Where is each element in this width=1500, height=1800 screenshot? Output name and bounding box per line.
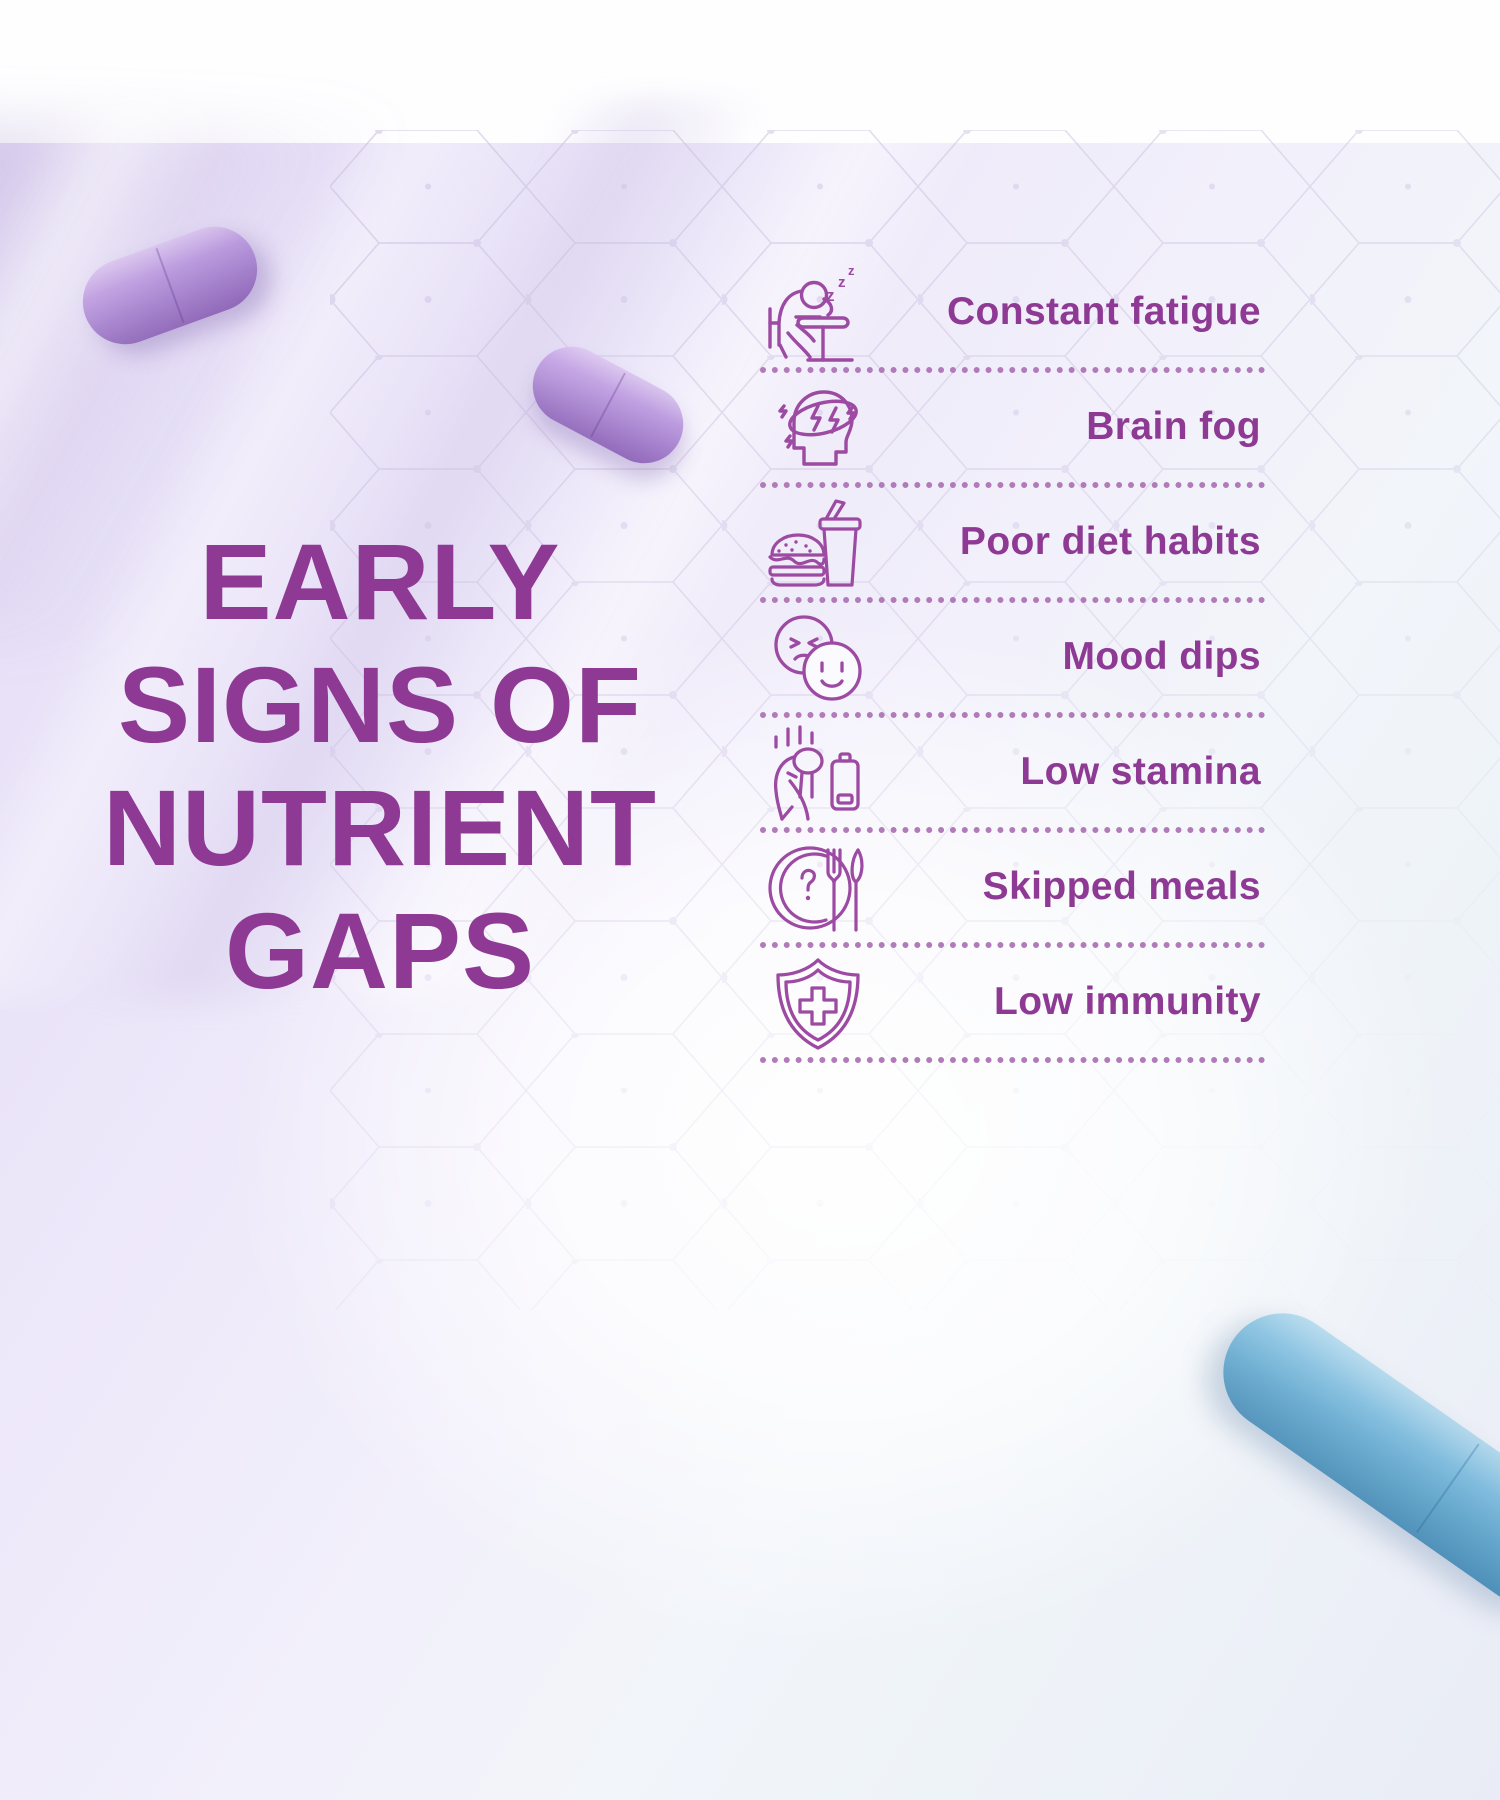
list-item: Skipped meals	[760, 833, 1265, 948]
list-item-label: Skipped meals	[876, 867, 1265, 908]
top-white-band	[0, 0, 1500, 143]
nutrient-gaps-poster: EARLY SIGNS OF NUTRIENT GAPS z z z	[0, 0, 1500, 1800]
early-signs-list: z z z Constant fatigue	[760, 258, 1265, 1063]
empty-plate-question-cutlery-icon	[760, 836, 876, 940]
shield-medical-cross-icon	[760, 951, 876, 1055]
headline-line-3: NUTRIENT	[40, 766, 720, 889]
list-item-label: Low immunity	[876, 982, 1265, 1023]
list-item-label: Poor diet habits	[876, 522, 1265, 563]
list-item: Poor diet habits	[760, 488, 1265, 603]
headline-line-2: SIGNS OF	[40, 643, 720, 766]
head-with-lightning-fog-icon	[760, 376, 876, 480]
list-item: Low stamina	[760, 718, 1265, 833]
person-asleep-at-desk-icon: z z z	[760, 261, 876, 365]
headline-line-4: GAPS	[40, 889, 720, 1012]
list-item-label: Brain fog	[876, 407, 1265, 448]
svg-text:z: z	[838, 274, 846, 291]
svg-text:z: z	[848, 263, 855, 278]
list-item-label: Low stamina	[876, 752, 1265, 793]
two-emoji-faces-icon	[760, 606, 876, 710]
page-title: EARLY SIGNS OF NUTRIENT GAPS	[40, 520, 720, 1012]
list-item-label: Mood dips	[876, 637, 1265, 678]
list-item: Brain fog	[760, 373, 1265, 488]
headline-line-1: EARLY	[40, 520, 720, 643]
list-item-label: Constant fatigue	[876, 292, 1265, 333]
list-item: Low immunity	[760, 948, 1265, 1063]
list-item: Mood dips	[760, 603, 1265, 718]
burger-and-soda-cup-icon	[760, 491, 876, 595]
list-item: z z z Constant fatigue	[760, 258, 1265, 373]
slumped-person-low-battery-icon	[760, 721, 876, 825]
